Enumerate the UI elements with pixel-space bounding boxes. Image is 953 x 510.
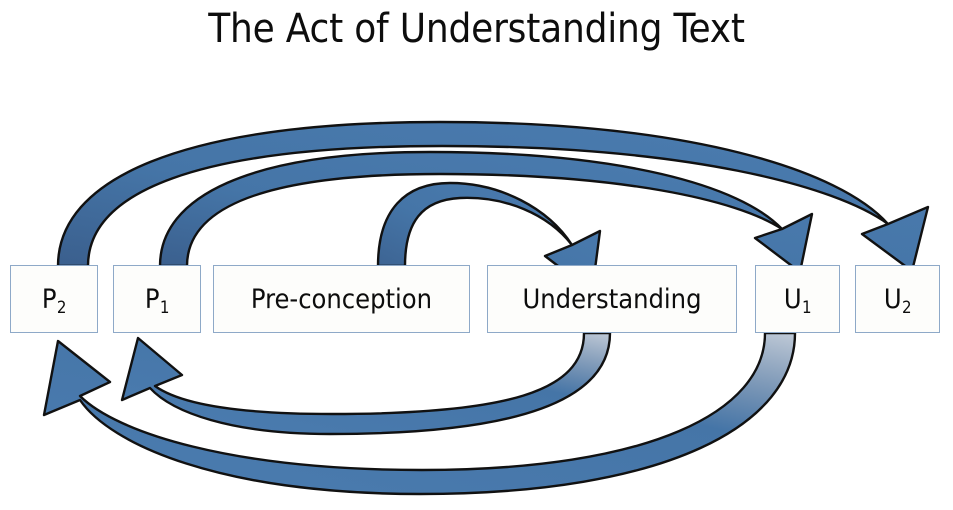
node-label-preconception: Pre-conception (251, 284, 432, 315)
node-box-u2[interactable]: U2 (855, 265, 940, 333)
curved-arrow-icon-understanding-to-p1 (122, 333, 610, 434)
curved-arrow-icon-preconception-to-u1 (160, 152, 812, 272)
node-label-u2: U2 (884, 284, 911, 315)
node-box-preconception[interactable]: Pre-conception (213, 265, 470, 333)
arrow-layer (0, 0, 953, 510)
diagram-canvas: The Act of Understanding Text (0, 0, 953, 510)
node-label-p1: P1 (145, 284, 169, 315)
node-box-u1[interactable]: U1 (755, 265, 840, 333)
node-box-p1[interactable]: P1 (113, 265, 201, 333)
node-label-understanding: Understanding (523, 284, 702, 315)
node-label-u1: U1 (784, 284, 811, 315)
node-box-p2[interactable]: P2 (10, 265, 98, 333)
node-box-understanding[interactable]: Understanding (487, 265, 737, 333)
node-label-p2: P2 (42, 284, 66, 315)
